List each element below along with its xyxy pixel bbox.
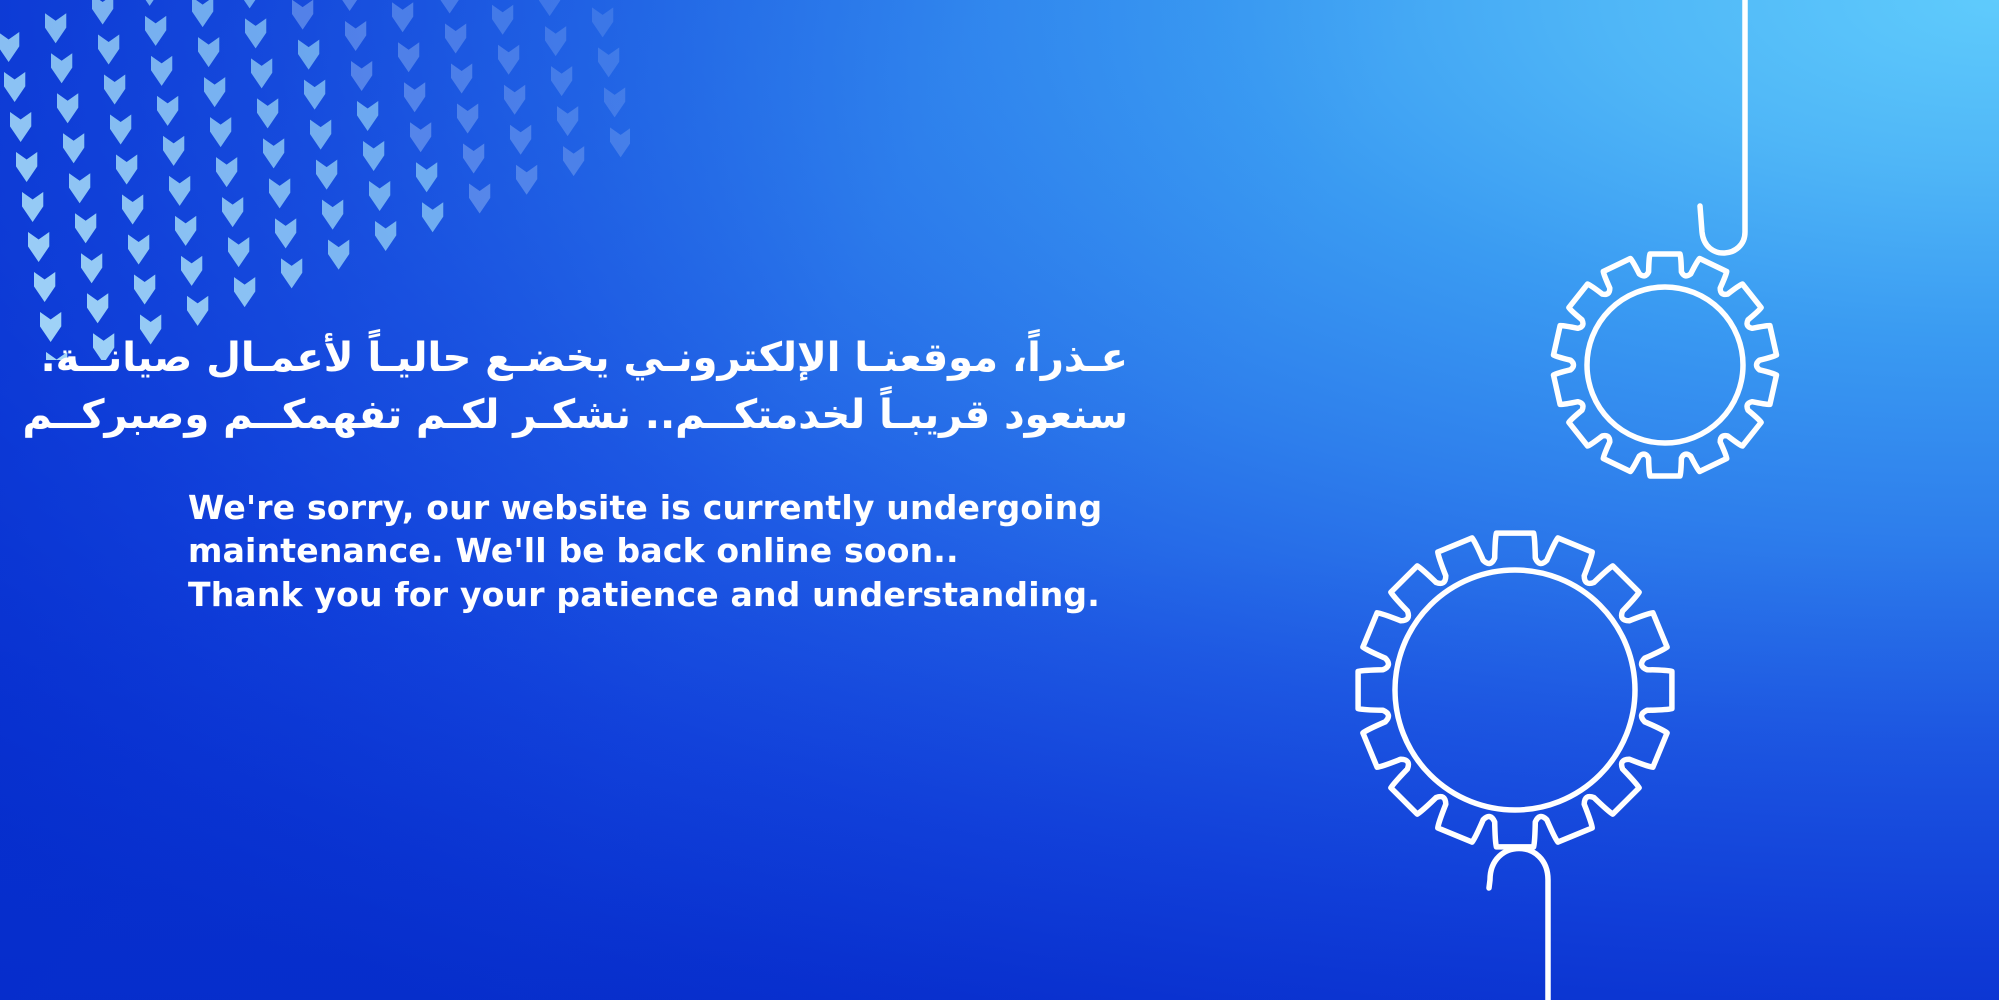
english-line-3: Thank you for your patience and understa…	[188, 573, 1188, 617]
maintenance-page: عـذراً، موقعنـا الإلكترونـي يخضـع حاليـا…	[0, 0, 1999, 1000]
arabic-line-2: سنعود قريبـاً لخدمتكــم.. نشكـر لكـم تفه…	[188, 387, 1128, 444]
arabic-message: عـذراً، موقعنـا الإلكترونـي يخضـع حاليـا…	[188, 330, 1128, 444]
arabic-line-1: عـذراً، موقعنـا الإلكترونـي يخضـع حاليـا…	[188, 330, 1128, 387]
english-message: We're sorry, our website is currently un…	[188, 486, 1188, 618]
english-line-1: We're sorry, our website is currently un…	[188, 486, 1188, 530]
message-block: عـذراً، موقعنـا الإلكترونـي يخضـع حاليـا…	[188, 330, 1188, 617]
english-line-2: maintenance. We'll be back online soon..	[188, 529, 1188, 573]
